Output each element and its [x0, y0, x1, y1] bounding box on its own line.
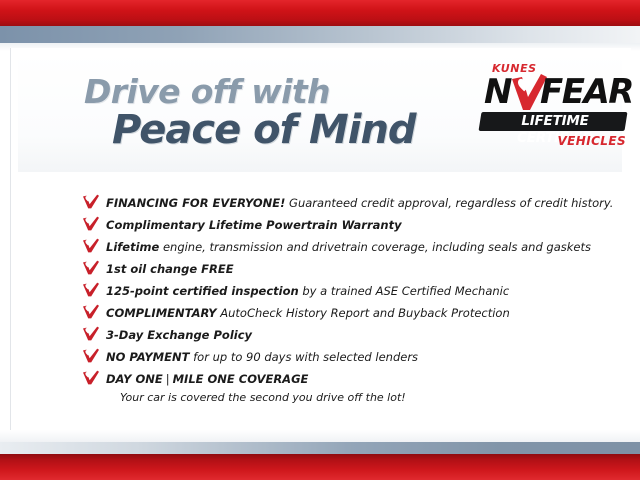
top-steel-bar	[0, 26, 640, 43]
list-item-strong: COMPLIMENTARY	[106, 306, 217, 320]
list-item-regular: engine, transmission and drivetrain cove…	[163, 240, 591, 254]
bottom-red-bar	[0, 454, 640, 480]
checkmark-heart-bullet-icon	[82, 370, 100, 385]
checkmark-heart-bullet-icon	[82, 282, 100, 297]
page-title: Drive off with Peace of Mind	[84, 74, 464, 152]
benefits-list: FINANCING FOR EVERYONE! Guaranteed credi…	[82, 192, 582, 406]
list-item-regular: for up to 90 days with selected lenders	[193, 350, 418, 364]
list-item-text: DAY ONE|MILE ONE COVERAGE	[106, 368, 582, 390]
list-item-strong: 3-Day Exchange Policy	[106, 328, 252, 342]
list-item-strong: Lifetime	[106, 240, 159, 254]
list-item: 3-Day Exchange Policy	[82, 324, 582, 346]
list-item-text: 1st oil change FREE	[106, 258, 582, 280]
list-item-text: 125-point certified inspection by a trai…	[106, 280, 582, 302]
list-item-subtext: Your car is covered the second you drive…	[106, 390, 582, 406]
checkmark-heart-bullet-icon	[82, 304, 100, 319]
list-item-strong: FINANCING FOR EVERYONE!	[106, 196, 285, 210]
headline-line-2: Peace of Mind	[112, 108, 464, 152]
logo-wordmark: N FEAR	[484, 75, 626, 109]
list-item-text: FINANCING FOR EVERYONE! Guaranteed credi…	[106, 192, 582, 214]
list-item-regular: Guaranteed credit approval, regardless o…	[289, 196, 613, 210]
checkmark-heart-bullet-icon	[82, 260, 100, 275]
advertisement-banner: Drive off with Peace of Mind KUNES N FEA…	[0, 0, 640, 480]
checkmark-heart-bullet-icon	[82, 216, 100, 231]
list-item-text: COMPLIMENTARY AutoCheck History Report a…	[106, 302, 582, 324]
list-item: COMPLIMENTARY AutoCheck History Report a…	[82, 302, 582, 324]
list-item: 1st oil change FREE	[82, 258, 582, 280]
list-item: NO PAYMENT for up to 90 days with select…	[82, 346, 582, 368]
logo-vehicles-text: VEHICLES	[478, 134, 626, 148]
list-item-regular: AutoCheck History Report and Buyback Pro…	[220, 306, 510, 320]
checkmark-heart-bullet-icon	[82, 238, 100, 253]
list-item: FINANCING FOR EVERYONE! Guaranteed credi…	[82, 192, 582, 214]
list-item: Lifetime engine, transmission and drivet…	[82, 236, 582, 258]
list-item: DAY ONE|MILE ONE COVERAGE Your car is co…	[82, 368, 582, 406]
list-item-strong: Complimentary Lifetime Powertrain Warran…	[106, 218, 402, 232]
top-red-bar	[0, 0, 640, 26]
list-item: Complimentary Lifetime Powertrain Warran…	[82, 214, 582, 236]
bottom-fade-gradient	[0, 430, 640, 442]
checkmark-heart-bullet-icon	[82, 348, 100, 363]
list-item-strong: 125-point certified inspection	[106, 284, 299, 298]
list-item-strong: NO PAYMENT	[106, 350, 189, 364]
list-item: 125-point certified inspection by a trai…	[82, 280, 582, 302]
headline-line-1: Drive off with	[84, 74, 464, 110]
kunes-no-fear-logo: KUNES N FEAR LIFETIME CERTIFIED VEHICLES	[478, 62, 628, 162]
checkmark-heart-bullet-icon	[82, 326, 100, 341]
list-item-text: Lifetime engine, transmission and drivet…	[106, 236, 582, 258]
list-item-strong: DAY ONE	[106, 372, 163, 386]
checkmark-heart-bullet-icon	[82, 194, 100, 209]
list-item-strong-2: MILE ONE COVERAGE	[173, 372, 309, 386]
logo-certified-banner-text: LIFETIME CERTIFIED	[484, 113, 626, 130]
bottom-steel-bar	[0, 442, 640, 454]
list-item-separator: |	[163, 372, 173, 386]
list-item-text: 3-Day Exchange Policy	[106, 324, 582, 346]
list-item-strong: 1st oil change FREE	[106, 262, 234, 276]
list-item-text: Complimentary Lifetime Powertrain Warran…	[106, 214, 582, 236]
logo-word-fear: FEAR	[540, 75, 633, 109]
list-item-regular: by a trained ASE Certified Mechanic	[302, 284, 509, 298]
list-item-text: NO PAYMENT for up to 90 days with select…	[106, 346, 582, 368]
